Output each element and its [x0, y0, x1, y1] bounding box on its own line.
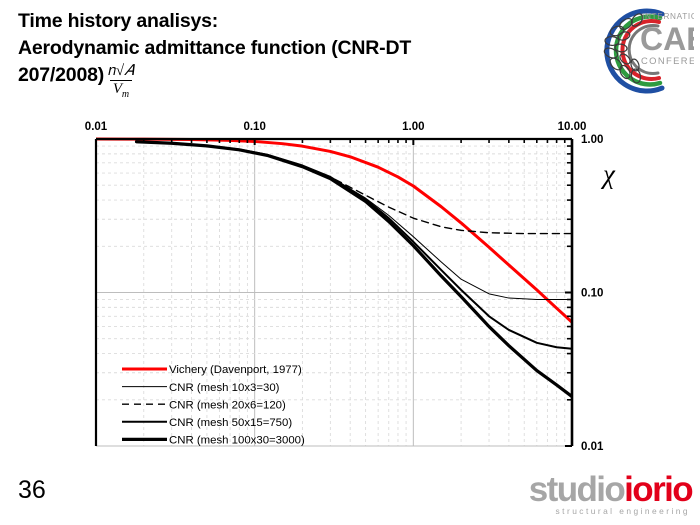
series-group — [96, 139, 572, 397]
legend-label-2: CNR (mesh 20x6=120) — [169, 399, 286, 411]
series-line-1 — [137, 142, 573, 300]
logo-word-iorio: iorio — [624, 470, 692, 509]
studio-iorio-wordmark: studioiorio — [460, 472, 692, 508]
x-axis-tick-label: 0.10 — [243, 121, 265, 133]
legend-label-3: CNR (mesh 50x15=750) — [169, 417, 292, 429]
y-axis-tick-label: 0.01 — [581, 441, 604, 453]
y-axis-label: χ — [600, 159, 616, 189]
legend-label-1: CNR (mesh 10x3=30) — [169, 382, 280, 394]
x-axis-tick-label: 0.01 — [85, 121, 108, 133]
series-line-2 — [137, 142, 573, 234]
studio-iorio-logo: studioiorio structural engineering — [460, 472, 692, 516]
series-line-0 — [96, 139, 572, 322]
legend-label-0: Vichery (Davenport, 1977) — [169, 364, 302, 376]
y-axis-tick-label: 1.00 — [581, 134, 603, 146]
page-number: 36 — [18, 476, 46, 505]
y-axis-tick-label: 0.10 — [581, 288, 603, 300]
legend-label-4: CNR (mesh 100x30=3000) — [169, 435, 305, 447]
x-axis-tick-label: 10.00 — [558, 121, 587, 133]
logo-tagline: structural engineering — [460, 506, 692, 516]
aerodynamic-admittance-chart: 0.010.101.0010.001.000.100.01χVichery (D… — [0, 0, 700, 525]
x-axis-tick-label: 1.00 — [402, 121, 424, 133]
series-line-4 — [137, 142, 573, 397]
logo-word-studio: studio — [529, 470, 624, 509]
